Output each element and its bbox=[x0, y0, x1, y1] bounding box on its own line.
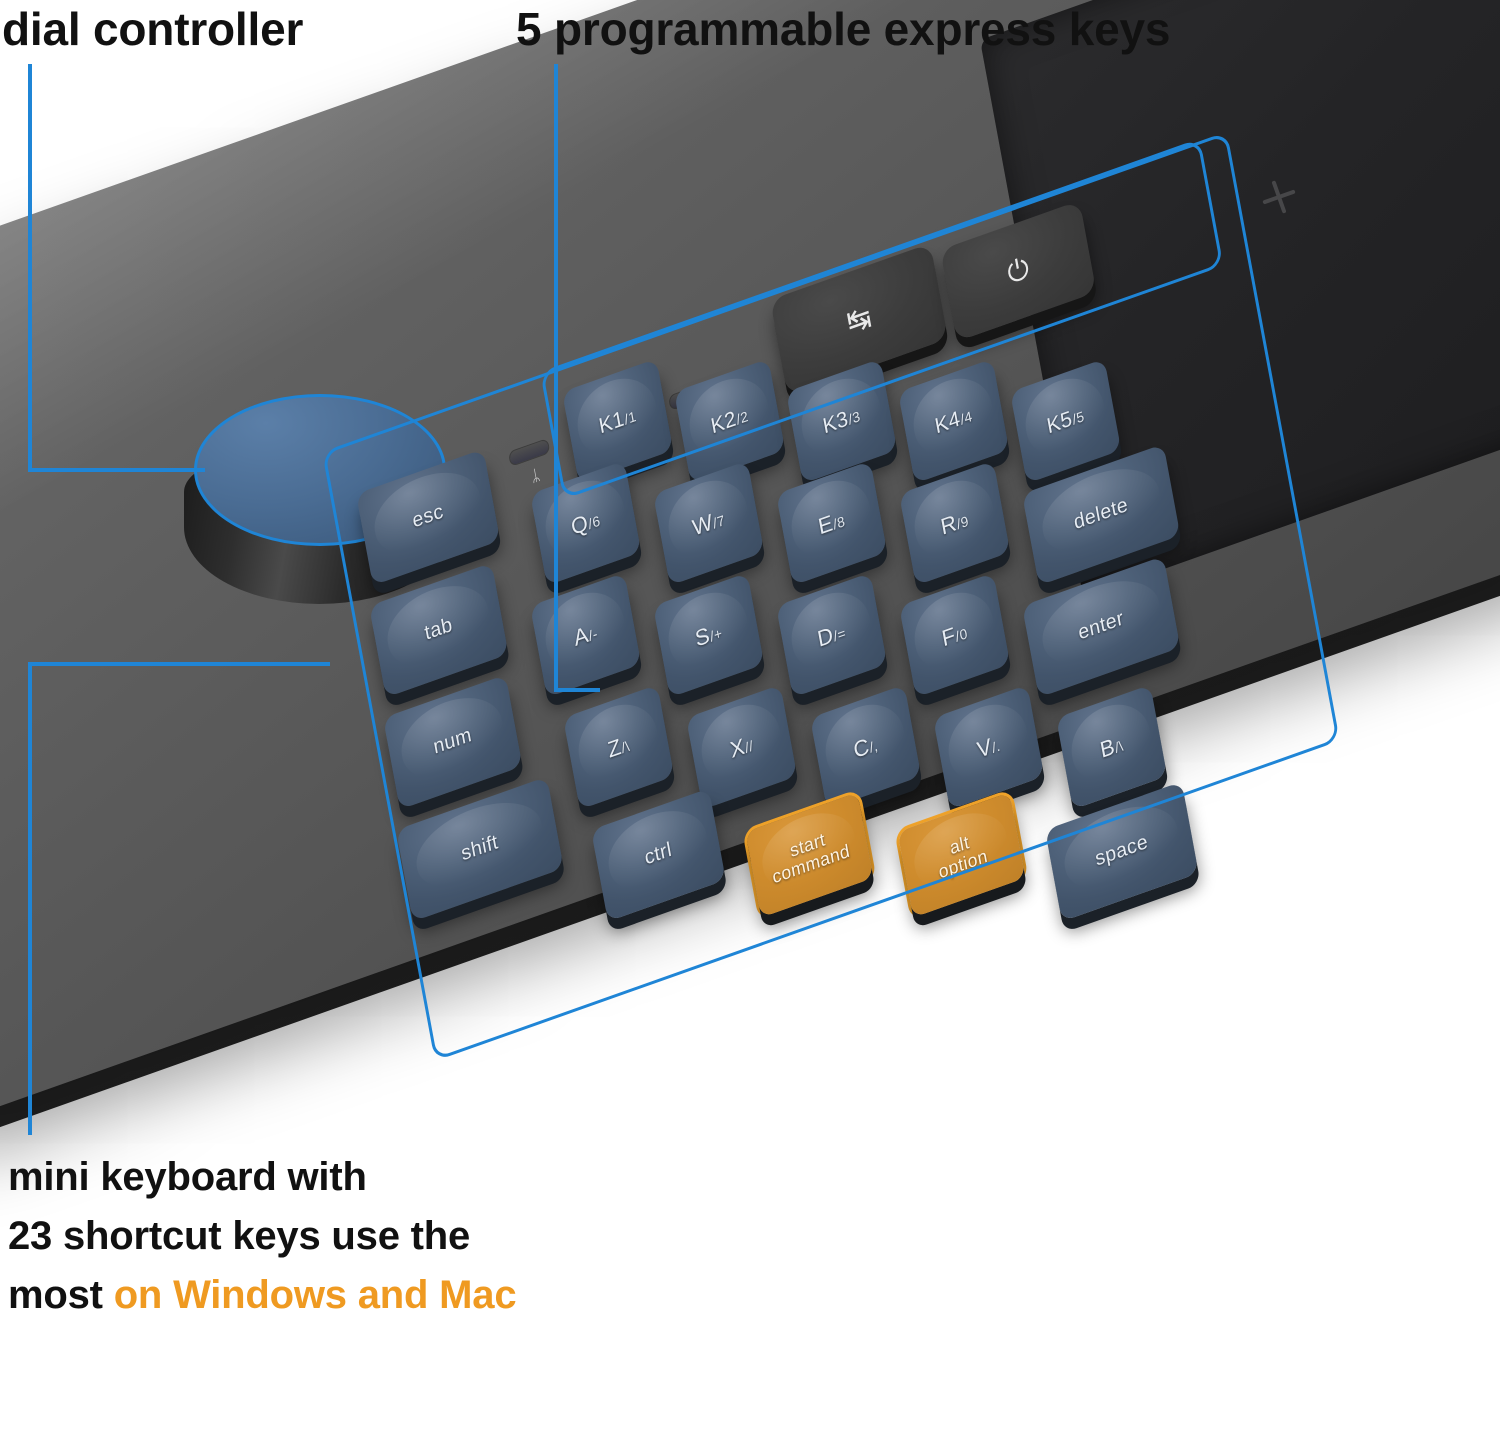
caption-line-1: mini keyboard with bbox=[8, 1148, 708, 1207]
callout-line-dial bbox=[30, 64, 205, 470]
caption-line-3-plain: most bbox=[8, 1273, 114, 1317]
caption-line-3: most on Windows and Mac bbox=[8, 1266, 708, 1325]
callout-line-express bbox=[556, 64, 600, 690]
caption-dial-controller: dial controller bbox=[2, 2, 303, 56]
caption-line-3-highlight: on Windows and Mac bbox=[114, 1273, 517, 1317]
caption-mini-keyboard: mini keyboard with 23 shortcut keys use … bbox=[8, 1148, 708, 1326]
caption-line-2: 23 shortcut keys use the bbox=[8, 1207, 708, 1266]
caption-express-keys: 5 programmable express keys bbox=[516, 2, 1170, 56]
callout-line-keyboard bbox=[30, 664, 330, 1135]
